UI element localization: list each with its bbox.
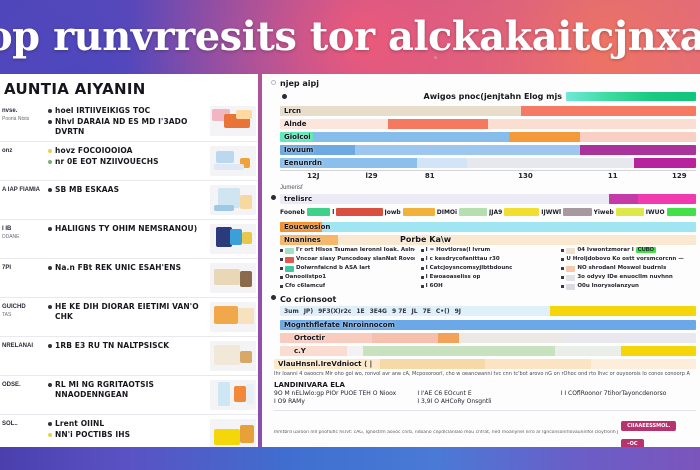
thumbnail-shape — [234, 386, 246, 402]
section4-body-text: Ihr Ioanni 4 oaoocrs Mlr oho gol wo, ron… — [274, 371, 696, 379]
list-item-body: hoel IRTIIVEIKIGS TOCNhvl DARAIA ND ES M… — [48, 106, 210, 137]
page-title: op runvrresits tor alckakaitcjnxa0tesjgo — [0, 13, 700, 60]
section2-header-bar: trelisrc — [280, 193, 696, 204]
note-item: U Hroljdobovo Ko ostt vorsmcorcnn — — [561, 256, 696, 263]
note-item: I Catcjoysncomsyjlbtbdounc — [421, 265, 556, 272]
list-item[interactable]: onzhovz FOCOIOOIOAnr 0E EOT NZIIVOUECHS — [0, 142, 258, 181]
section2-legend: FooneblJowbDIMOiJJA9IJWWlYiwebIWUO — [280, 206, 696, 218]
section3-marker-icon — [271, 295, 276, 300]
right-detail-panel: njep aipj Awigos pnoc(jenjtahn Elog mjs … — [262, 74, 700, 447]
note-item: O0u Inorysolanzyun — [561, 283, 696, 290]
section3-blue-label: Mognthflefate Nnroinnocom — [284, 321, 395, 329]
thumbnail-shape — [230, 229, 242, 245]
bullet-icon — [48, 383, 52, 387]
bar-segment — [438, 333, 459, 343]
chart-bar-row: Lrcn — [280, 105, 696, 116]
legend-item[interactable]: JJA9 — [489, 208, 539, 216]
list-item-meta-secondary: TAS — [2, 312, 48, 318]
list-item-text: HALIIGNS TY OHIM NEMSRANOU) — [55, 224, 197, 234]
bar-segment — [563, 333, 696, 343]
list-item-meta-primary: ODSE. — [2, 382, 48, 390]
section4-title-bar: VlauHnsnl.IreVdnioct ⟨ | — [274, 358, 696, 369]
legend-item[interactable]: Jowb — [385, 208, 435, 216]
list-item-body: hovz FOCOIOOIOAnr 0E EOT NZIIVOUECHS — [48, 146, 210, 168]
bar-segment — [372, 333, 439, 343]
section2-marker-icon — [271, 195, 276, 200]
bullet-icon — [48, 266, 52, 270]
chart-bar-track — [280, 132, 696, 142]
note-text: I c kesdrycofanittau r30 — [426, 256, 500, 263]
list-item-thumbnail[interactable] — [210, 106, 256, 136]
thumbnail-shape — [242, 232, 252, 244]
list-item-meta: I IBDDANE — [2, 224, 48, 240]
footer-line: I I COflRoonor 7tihorTayoncdenorso — [561, 390, 696, 399]
list-item-thumbnail[interactable] — [210, 263, 256, 293]
section-monthly: Co crionsoot 3umJP)9F3(X)r2c1E3E4G9 7EJL… — [268, 294, 696, 356]
list-item[interactable]: 7PINa.n FBt REK UNIC ESAH'ENS — [0, 259, 258, 298]
bar-segment — [322, 222, 696, 232]
chart-bar-row: Eenunrdn — [280, 157, 696, 168]
list-item-text: hoel IRTIIVEIKIGS TOC — [55, 106, 150, 116]
legend-item[interactable]: IWUO — [646, 208, 696, 216]
header-banner: op runvrresits tor alckakaitcjnxa0tesjgo — [0, 0, 700, 72]
footer-line: 9O M nELlwlo:gp PIOr PUOE TEH O Nioox — [274, 390, 409, 399]
list-item-text: RL MI NG RGRITAOTSIS NNAODENNGEAN — [55, 380, 207, 400]
note-swatch — [285, 248, 294, 254]
legend-item[interactable]: Fooneb — [280, 208, 330, 216]
list-item-line: Na.n FBt REK UNIC ESAH'ENS — [48, 263, 207, 273]
list-item-meta-primary: nvse. — [2, 108, 48, 116]
left-panel-heading: AUNTIA AIYANIN — [0, 74, 258, 102]
note-bullet-icon — [421, 276, 424, 279]
note-text: 3o odyvy IDe enuoclIm nuvhnn — [577, 274, 673, 281]
list-item-line: Lrent OIINL — [48, 419, 207, 429]
legend-item-label: IJWWl — [541, 209, 561, 216]
note-column: I'r ort HIsos Tsuman Ieronnl Ioak. Aslnc… — [280, 247, 415, 292]
title-bar-segment — [591, 359, 697, 369]
bar-segment — [509, 132, 580, 142]
section2-note-columns: I'r ort HIsos Tsuman Ieronnl Ioak. Aslnc… — [280, 247, 696, 292]
list-item-text: nr 0E EOT NZIIVOUECHS — [55, 157, 159, 167]
chart-bar-label: Iovuum — [284, 146, 313, 154]
list-item-meta-primary: NRELANAI — [2, 343, 48, 351]
legend-item[interactable]: IJWWl — [541, 208, 591, 216]
chart-bar-label: Alnde — [284, 120, 307, 128]
list-item-line: 1RB E3 RU TN NALTPSISCK — [48, 341, 207, 351]
cta-bar: Ihmtbrd uaroon nIll pnofluflc hsrvt: cAG… — [274, 414, 696, 447]
note-text: NO shrodanl Moswol budrnls — [577, 265, 666, 272]
legend-item[interactable]: DIMOi — [437, 208, 487, 216]
legend-item-label: Fooneb — [280, 209, 305, 216]
bar-segment — [280, 194, 609, 204]
thumbnail-shape — [216, 151, 234, 163]
list-item-body: RL MI NG RGRITAOTSIS NNAODENNGEAN — [48, 380, 210, 401]
cta-button[interactable]: CIIAAEESSMOL. — [621, 421, 676, 431]
note-swatch — [566, 284, 575, 290]
list-item-line: hoel IRTIIVEIKIGS TOC — [48, 106, 207, 116]
list-item[interactable]: ODSE.RL MI NG RGRITAOTSIS NNAODENNGEAN — [0, 376, 258, 415]
list-item-text: Nhvl DARAIA ND ES MD I'3ADO DVRTN — [55, 117, 207, 137]
legend-item-swatch — [336, 208, 382, 216]
list-item-meta: NRELANAI — [2, 341, 48, 351]
bar-segment — [280, 346, 347, 356]
note-item: I c kesdrycofanittau r30 — [421, 256, 556, 263]
bar-segment — [555, 346, 622, 356]
bar-segment — [417, 158, 467, 168]
list-item-meta-primary: SOL.. — [2, 421, 48, 429]
section2-head-heading: Porbe Ka\w — [400, 235, 451, 244]
chart-bar-label: Eenunrdn — [284, 159, 322, 167]
chart-bar-row: Iovuum — [280, 144, 696, 155]
monthly-bar-row: c.Y — [280, 345, 696, 356]
monthly-bar-label: Ortoctir — [294, 334, 325, 342]
note-text: I = Hovtlorsa(l lvrum — [426, 247, 491, 254]
section1-axis: 12Jl298113011129 — [280, 170, 696, 183]
list-item-meta: SOL.. — [2, 419, 48, 429]
list-item-body: Na.n FBt REK UNIC ESAH'ENS — [48, 263, 210, 274]
note-item: 3o odyvy IDe enuoclIm nuvhnn — [561, 274, 696, 281]
thumbnail-shape — [240, 351, 252, 363]
list-item-meta: ODSE. — [2, 380, 48, 390]
bar-segment — [467, 158, 633, 168]
note-item: I Ewoaoaseliss op — [421, 274, 556, 281]
bar-segment — [634, 158, 696, 168]
footer-divider — [274, 410, 696, 411]
note-bullet-icon — [561, 285, 564, 288]
thumbnail-shape — [214, 205, 234, 211]
tick-number: 9F3(X)r2c — [318, 308, 351, 315]
footer-column: I I COflRoonor 7tihorTayoncdenorso — [561, 390, 696, 407]
legend-item[interactable]: l — [332, 208, 382, 216]
legend-item-label: Jowb — [385, 209, 401, 216]
chart-bar-label: Lrcn — [284, 107, 301, 115]
bar-segment — [580, 145, 696, 155]
note-text: U Hroljdobovo Ko ostt vorsmcorcnn — — [566, 256, 683, 263]
section2-head-row: Nnanines Porbe Ka\w — [280, 234, 696, 245]
bar-segment — [355, 145, 580, 155]
title-bar-segment — [380, 359, 486, 369]
list-item-thumbnail[interactable] — [210, 380, 256, 410]
section1-title: njep aipj — [280, 78, 319, 89]
list-item[interactable]: nvse.Pooria Ntstshoel IRTIIVEIKIGS TOCNh… — [0, 102, 258, 142]
note-text: I'r ort HIsos Tsuman Ieronnl Ioak. Aslnc… — [296, 247, 415, 254]
list-item-meta-secondary: DDANE — [2, 234, 48, 240]
title-bar-segment — [485, 359, 591, 369]
list-item-text: NN'i POCTIBS IHS — [55, 430, 130, 440]
footer-line: I 3,9I O AHCoRy Onsgntli — [417, 398, 552, 407]
legend-item-label: IWUO — [646, 209, 665, 216]
list-item-meta-primary: A IAP FIAMIA — [2, 187, 48, 195]
section2-sub-label: Eoucwosion — [284, 223, 330, 231]
bullet-icon — [48, 120, 52, 124]
list-item-meta-primary: 7PI — [2, 265, 48, 273]
bullet-icon — [48, 160, 52, 164]
bar-segment — [313, 132, 509, 142]
section1-marker-icon — [271, 80, 276, 85]
chart-bar-track — [280, 106, 696, 116]
note-item: Oanooiistpo1 — [280, 274, 415, 281]
legend-bullet-icon — [282, 94, 287, 99]
tick-number: 1E — [356, 308, 364, 315]
footer-line: I O9 RAMy — [274, 398, 409, 407]
list-item-body: HE KE DIH DIORAR EIETIMI VAN'O CHK — [48, 302, 210, 323]
section3-title: Co crionsoot — [280, 294, 696, 305]
legend-item-swatch — [504, 208, 539, 216]
list-item-line: SB MB ESKAAS — [48, 185, 207, 195]
bullet-icon — [48, 109, 52, 113]
note-item: NO shrodanl Moswol budrnls — [561, 265, 696, 272]
tick-number: 3E4G — [370, 308, 387, 315]
note-text: I Ewoaoaseliss op — [426, 274, 481, 281]
cta-button[interactable]: –OC — [621, 439, 643, 447]
section4-footer-columns: 9O M nELlwlo:gp PIOr PUOE TEH O NiooxI O… — [274, 390, 696, 407]
thumbnail-shape — [240, 271, 252, 287]
list-item-meta: nvse.Pooria Ntsts — [2, 106, 48, 122]
cta-note: Ihmtbrd uaroon nIll pnofluflc hsrvt: cAG… — [274, 430, 618, 435]
legend-item-swatch — [667, 208, 696, 216]
chart-bar-label: Giolcoi — [284, 133, 311, 141]
tick-number: JL — [412, 308, 418, 315]
section4-title: VlauHnsnl.IreVdnioct ⟨ | — [278, 360, 372, 368]
note-item: I = Hovtlorsa(l lvrum — [421, 247, 556, 254]
note-swatch — [285, 257, 294, 263]
legend-item-label: JJA9 — [489, 209, 502, 216]
note-text: Cfo c6Iamcuf — [285, 283, 325, 290]
list-item-text: 1RB E3 RU TN NALTPSISCK — [55, 341, 169, 351]
list-item-thumbnail[interactable] — [210, 146, 256, 176]
bullet-icon — [48, 422, 52, 426]
tick-number: 7E — [423, 308, 431, 315]
section2-head-label: Nnanines — [284, 236, 321, 244]
list-item-thumbnail[interactable] — [210, 185, 256, 215]
note-bullet-icon — [421, 258, 424, 261]
bullet-icon — [48, 305, 52, 309]
list-item-thumbnail[interactable] — [210, 224, 256, 254]
list-item-meta: GUICHDTAS — [2, 302, 48, 318]
footer-column: I I'AE C6 EOcunt EI 3,9I O AHCoRy Onsgnt… — [417, 390, 552, 407]
tick-number: 3um — [284, 308, 299, 315]
thumbnail-shape — [214, 345, 240, 365]
axis-tick-label: l29 — [365, 172, 377, 180]
list-item-meta-secondary: Pooria Ntsts — [2, 116, 48, 122]
chart-bar-track — [280, 145, 696, 155]
tick-number: C•() — [436, 308, 450, 315]
list-item-text: Lrent OIINL — [55, 419, 104, 429]
list-item-meta: A IAP FIAMIA — [2, 185, 48, 195]
list-item-thumbnail[interactable] — [210, 341, 256, 371]
note-swatch — [566, 275, 575, 281]
tick-number: 9J — [455, 308, 461, 315]
bar-segment — [338, 235, 696, 245]
bullet-icon — [48, 188, 52, 192]
bullet-icon — [48, 344, 52, 348]
list-item-line: HE KE DIH DIORAR EIETIMI VAN'O CHK — [48, 302, 207, 322]
monthly-bar-track — [280, 346, 696, 356]
list-item-body: 1RB E3 RU TN NALTPSISCK — [48, 341, 210, 352]
bar-segment — [280, 106, 521, 116]
list-item-line: NN'i POCTIBS IHS — [48, 430, 207, 440]
bar-segment — [363, 346, 554, 356]
legend-item-label: l — [332, 209, 334, 216]
thumbnail-shape — [218, 382, 230, 406]
thumbnail-shape — [214, 164, 244, 170]
note-bullet-icon — [561, 249, 564, 252]
bar-segment — [459, 333, 563, 343]
list-item[interactable]: A IAP FIAMIASB MB ESKAAS — [0, 181, 258, 220]
legend-item-swatch — [403, 208, 435, 216]
note-swatch — [566, 248, 575, 254]
axis-tick-label: 12J — [307, 172, 319, 180]
list-item-meta-primary: I IB — [2, 226, 48, 234]
bar-segment — [488, 119, 696, 129]
left-results-panel: AUNTIA AIYANIN nvse.Pooria Ntstshoel IRT… — [0, 74, 258, 447]
bar-segment — [347, 346, 364, 356]
note-text: Dolwrnfaicnd b ASA Iart — [296, 265, 370, 272]
note-item: Vncoar siasy Puncodoay sIanNat Rovor — [280, 256, 415, 263]
list-item-line: HALIIGNS TY OHIM NEMSRANOU) — [48, 224, 207, 234]
legend-item-swatch — [563, 208, 591, 216]
section3-rows: Ortoctirc.Y — [280, 332, 696, 356]
list-item-line: hovz FOCOIOOIOA — [48, 146, 207, 156]
bar-segment — [621, 346, 696, 356]
section-legend: trelisrc FooneblJowbDIMOiJJA9IJWWlYiwebI… — [268, 193, 696, 292]
note-bullet-icon — [280, 258, 283, 261]
monthly-bar-row: Ortoctir — [280, 332, 696, 343]
thumbnail-shape — [240, 425, 254, 443]
footer-line: I I'AE C6 EOcunt E — [417, 390, 552, 399]
list-item-body: HALIIGNS TY OHIM NEMSRANOU) — [48, 224, 210, 235]
list-item-body: SB MB ESKAAS — [48, 185, 210, 196]
cta-buttons: CIIAAEESSMOL.–OC — [621, 414, 696, 447]
bar-segment — [609, 194, 638, 204]
results-list: nvse.Pooria Ntstshoel IRTIIVEIKIGS TOCNh… — [0, 102, 258, 447]
bar-segment — [580, 132, 696, 142]
note-swatch — [285, 266, 294, 272]
axis-tick-label: 129 — [672, 172, 687, 180]
chart-bar-row: Alnde — [280, 118, 696, 129]
section1-legend-label: Awigos pnoc(jenjtahn Elog mjs — [424, 91, 562, 102]
list-item[interactable]: I IBDDANEHALIIGNS TY OHIM NEMSRANOU) — [0, 220, 258, 259]
note-item: Dolwrnfaicnd b ASA Iart — [280, 265, 415, 272]
note-bullet-icon — [561, 267, 564, 270]
footer-gradient-strip — [0, 447, 700, 470]
note-bullet-icon — [561, 276, 564, 279]
section1-legend-gradient — [566, 92, 696, 101]
note-column: I = Hovtlorsa(l lvrumI c kesdrycofanitta… — [421, 247, 556, 292]
thumbnail-shape — [214, 269, 240, 285]
tick-number: JP) — [304, 308, 313, 315]
legend-item-label: Yiweb — [594, 209, 614, 216]
note-column: 04 Ivwontzmorar ICUBOU Hroljdobovo Ko os… — [561, 247, 696, 292]
note-bullet-icon — [280, 249, 283, 252]
note-text: Oanooiistpo1 — [285, 274, 326, 281]
list-item-line: RL MI NG RGRITAOTSIS NNAODENNGEAN — [48, 380, 207, 400]
section2-title: trelisrc — [284, 195, 312, 203]
note-bullet-icon — [561, 258, 564, 261]
list-item-thumbnail[interactable] — [210, 419, 256, 447]
note-text: 04 Ivwontzmorar I — [577, 247, 633, 254]
note-bullet-icon — [421, 249, 424, 252]
note-text: I Catcjoysncomsyjlbtbdounc — [426, 265, 513, 272]
axis-tick-label: 81 — [425, 172, 435, 180]
chart-bar-track — [280, 158, 696, 168]
legend-item-swatch — [616, 208, 644, 216]
list-item-meta: onz — [2, 146, 48, 156]
axis-tick-label: 11 — [608, 172, 618, 180]
chart-bar-track — [280, 119, 696, 129]
bullet-icon — [48, 149, 52, 153]
list-item-line: Nhvl DARAIA ND ES MD I'3ADO DVRTN — [48, 117, 207, 137]
thumbnail-shape — [214, 306, 238, 324]
section-chart: njep aipj Awigos pnoc(jenjtahn Elog mjs … — [268, 78, 696, 191]
monthly-bar-track — [280, 333, 696, 343]
note-item: Cfo c6Iamcuf — [280, 283, 415, 290]
tick-number: 9 7E — [392, 308, 407, 315]
legend-item[interactable]: Yiweb — [594, 208, 644, 216]
thumbnail-shape — [236, 110, 252, 119]
legend-item-swatch — [459, 208, 487, 216]
bar-segment — [521, 106, 696, 116]
section2-sub-bar: Eoucwosion — [280, 221, 696, 232]
list-item[interactable]: NRELANAI1RB E3 RU TN NALTPSISCK — [0, 337, 258, 376]
chart-bar-row: Giolcoi — [280, 131, 696, 142]
section1-axis-caption: Jumerisf — [280, 185, 696, 191]
note-text: I 6OH — [426, 283, 443, 290]
bar-segment — [638, 194, 696, 204]
list-item[interactable]: SOL..Lrent OIINLNN'i POCTIBS IHS — [0, 415, 258, 447]
footer-column: 9O M nELlwlo:gp PIOr PUOE TEH O NiooxI O… — [274, 390, 409, 407]
note-item: I 6OH — [421, 283, 556, 290]
section1-bars: LrcnAlndeGiolcoiIovuumEenunrdn — [280, 105, 696, 168]
thumbnail-shape — [214, 429, 240, 445]
note-item: 04 Ivwontzmorar ICUBO — [561, 247, 696, 254]
list-item-text: SB MB ESKAAS — [55, 185, 119, 195]
bar-segment — [388, 119, 488, 129]
list-item-thumbnail[interactable] — [210, 302, 256, 332]
list-item[interactable]: GUICHDTASHE KE DIH DIORAR EIETIMI VAN'O … — [0, 298, 258, 337]
note-item: I'r ort HIsos Tsuman Ieronnl Ioak. Aslnc… — [280, 247, 415, 254]
section4-sub-head: LANDINIVARA ELA — [274, 381, 696, 389]
list-item-meta-primary: GUICHD — [2, 304, 48, 312]
list-item-meta: 7PI — [2, 263, 48, 273]
note-bullet-icon — [280, 267, 283, 270]
axis-tick-label: 130 — [518, 172, 533, 180]
note-bullet-icon — [280, 276, 283, 279]
note-bullet-icon — [280, 285, 283, 288]
list-item-text: HE KE DIH DIORAR EIETIMI VAN'O CHK — [55, 302, 207, 322]
note-pill: CUBO — [636, 247, 656, 253]
note-swatch — [566, 266, 575, 272]
list-item-body: Lrent OIINLNN'i POCTIBS IHS — [48, 419, 210, 441]
list-item-meta-primary: onz — [2, 148, 48, 156]
note-text: O0u Inorysolanzyun — [577, 283, 639, 290]
section-footer-doc: VlauHnsnl.IreVdnioct ⟨ | Ihr Ioanni 4 oa… — [268, 358, 696, 447]
list-item-text: hovz FOCOIOOIOA — [55, 146, 133, 156]
note-text: Vncoar siasy Puncodoay sIanNat Rovor — [296, 256, 415, 263]
legend-item-swatch — [307, 208, 331, 216]
thumbnail-shape — [246, 384, 254, 404]
list-item-text: Na.n FBt REK UNIC ESAH'ENS — [55, 263, 181, 273]
note-bullet-icon — [421, 267, 424, 270]
thumbnail-shape — [240, 195, 252, 209]
list-item-line: nr 0E EOT NZIIVOUECHS — [48, 157, 207, 167]
legend-item-label: DIMOi — [437, 209, 457, 216]
section3-blue-bar: Mognthflefate Nnroinnocom — [280, 319, 696, 330]
bullet-icon — [48, 227, 52, 231]
thumbnail-shape — [238, 308, 254, 324]
note-bullet-icon — [421, 285, 424, 288]
monthly-bar-label: c.Y — [294, 347, 306, 355]
